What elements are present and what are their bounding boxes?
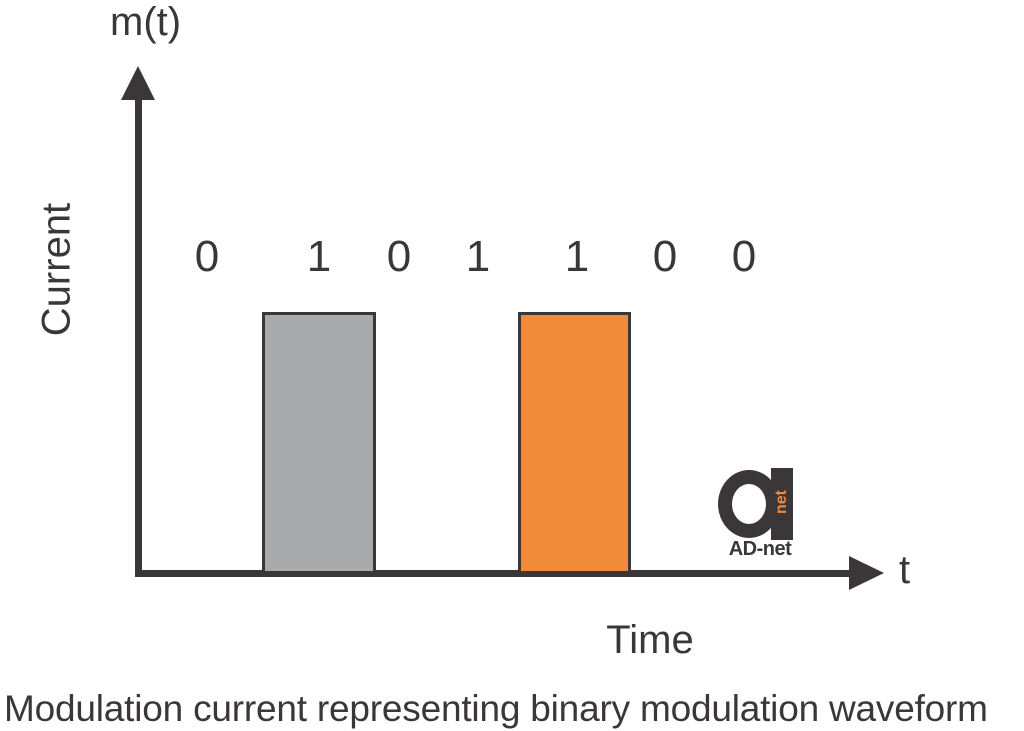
bit-label: 0: [722, 232, 766, 282]
logo-net-text: net: [773, 474, 791, 530]
figure-caption: Modulation current representing binary m…: [4, 688, 1024, 730]
bit-label: 0: [185, 232, 229, 282]
pulse-bar-orange: [518, 312, 631, 574]
y-axis-label: Current: [35, 190, 80, 350]
bit-label: 0: [377, 232, 421, 282]
x-axis-line: [135, 570, 853, 577]
logo-accent-bar: net: [771, 468, 793, 540]
adnet-wordmark: AD-net: [714, 538, 806, 561]
bit-label: 1: [555, 232, 599, 282]
y-axis-arrow-icon: [121, 66, 155, 100]
bit-label: 0: [643, 232, 687, 282]
modulation-waveform-figure: m(t) t Current Time 0 1 0 1 1 0 0 net AD…: [0, 0, 1024, 731]
bit-label: 1: [297, 232, 341, 282]
adnet-logo-mark-icon: net: [714, 466, 806, 540]
y-axis-line: [135, 96, 142, 577]
adnet-logo: net AD-net: [714, 466, 806, 562]
x-axis-label: Time: [560, 618, 740, 663]
pulse-bar-gray: [262, 312, 376, 574]
x-axis-arrow-icon: [849, 556, 884, 590]
x-axis-title: t: [899, 548, 910, 593]
bit-label: 1: [456, 232, 500, 282]
y-axis-title: m(t): [110, 0, 181, 45]
